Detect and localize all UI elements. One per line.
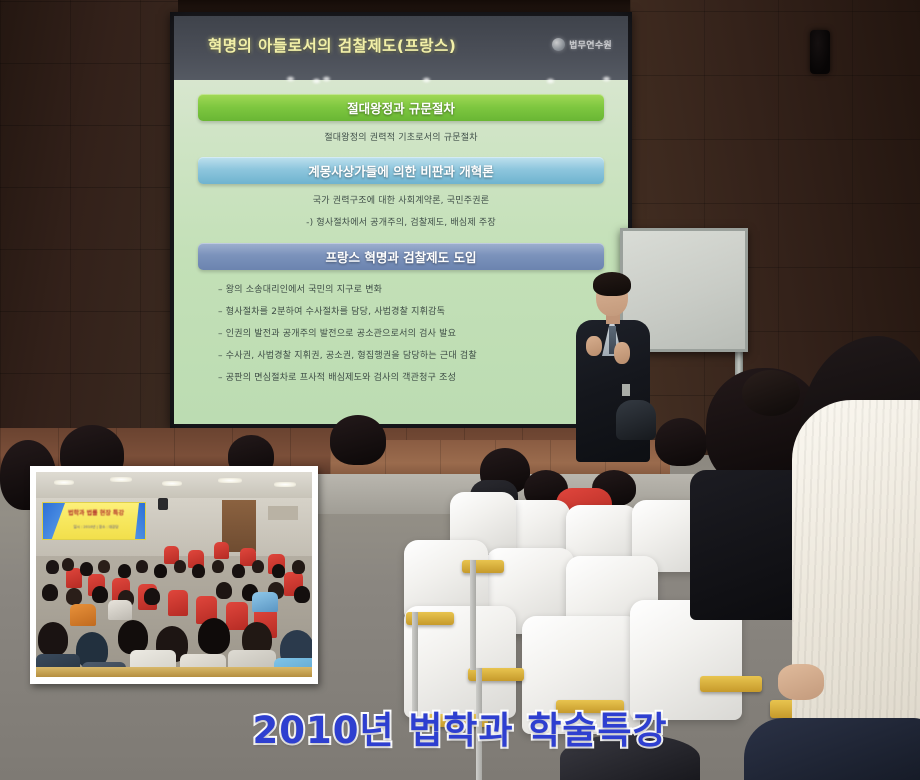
chair-armrest xyxy=(462,560,504,573)
chair-leg xyxy=(470,560,476,670)
inset-audience-head xyxy=(80,562,93,576)
inset-event-banner: 법학과 법률 현장 특강 일시 : 2010년 | 장소 : 대강당 xyxy=(42,502,146,540)
inset-audience-head xyxy=(38,622,68,656)
inset-audience-head xyxy=(216,582,232,599)
inset-wall-speaker-icon xyxy=(158,498,168,510)
inset-audience-head xyxy=(66,588,82,605)
slide-logo-text: 법무연수원 xyxy=(569,38,612,51)
inset-audience-head xyxy=(118,620,148,654)
slide-bullet: – 형사절차를 2분하여 수사절차를 담당, 사법경찰 지휘감독 xyxy=(218,304,604,317)
slide-logo: 법무연수원 xyxy=(552,38,612,51)
slide-section-heading-3: 프랑스 혁명과 검찰제도 도입 xyxy=(198,243,604,270)
wood-panel-wall-left xyxy=(0,0,178,436)
audience-head xyxy=(655,418,707,466)
inset-red-seat xyxy=(226,602,248,630)
ceiling-light-icon xyxy=(54,480,74,485)
presentation-slide: 혁명의 아들로서의 검찰제도(프랑스) 법무연수원 절대왕정과 규문절차 절대왕… xyxy=(174,16,628,424)
auditorium-audience-inset-photo: 법학과 법률 현장 특강 일시 : 2010년 | 장소 : 대강당 xyxy=(30,466,318,684)
inset-audience-head xyxy=(42,584,58,601)
lecturer-name-badge xyxy=(622,384,630,396)
inset-audience-body xyxy=(70,604,96,626)
inset-photo-content: 법학과 법률 현장 특강 일시 : 2010년 | 장소 : 대강당 xyxy=(36,472,312,677)
inset-audience-head xyxy=(144,588,160,605)
inset-audience-body xyxy=(252,592,278,612)
inset-banner-subtitle: 일시 : 2010년 | 장소 : 대강당 xyxy=(61,525,131,530)
inset-audience-head xyxy=(232,564,245,578)
photo-caption: 2010년 법학과 학술특강 xyxy=(0,700,920,754)
slide-section-line-2-2: -) 형사절차에서 공개주의, 검찰제도, 배심제 주장 xyxy=(198,215,604,228)
inset-audience-head xyxy=(198,618,230,654)
lecturer-hair xyxy=(593,272,631,296)
slide-bullet: – 수사권, 사법경찰 지휘권, 공소권, 형집행권을 담당하는 근대 검찰 xyxy=(218,348,604,361)
inset-red-seat xyxy=(168,590,188,616)
inset-desk-edge xyxy=(36,667,312,677)
inset-audience-head xyxy=(174,560,186,573)
ceiling-light-icon xyxy=(274,482,296,487)
slide-section-line-1-1: 절대왕정의 권력적 기초로서의 규문절차 xyxy=(198,130,604,143)
inset-audience-head xyxy=(192,564,205,578)
projection-screen: 혁명의 아들로서의 검찰제도(프랑스) 법무연수원 절대왕정과 규문절차 절대왕… xyxy=(170,12,632,428)
slide-body: 절대왕정과 규문절차 절대왕정의 권력적 기초로서의 규문절차 계몽사상가들에 … xyxy=(174,80,628,424)
inset-audience-head xyxy=(212,560,224,573)
inset-red-seat xyxy=(214,542,229,559)
inset-audience-head xyxy=(98,560,110,573)
slide-bullet: – 공판의 면심절차로 프사적 배심제도와 검사의 객관청구 조성 xyxy=(218,370,604,383)
inset-audience-head xyxy=(294,586,310,603)
slide-section-heading-1: 절대왕정과 규문절차 xyxy=(198,94,604,121)
wall-speaker-icon xyxy=(810,30,830,74)
slide-bullet: – 왕의 소송대리인에서 국민의 지구로 변화 xyxy=(218,282,604,295)
inset-audience-head xyxy=(62,558,74,571)
slide-section-heading-2: 계몽사상가들에 의한 비판과 개혁론 xyxy=(198,157,604,184)
inset-audience-head xyxy=(272,564,285,578)
lecturer-left-hand xyxy=(586,336,602,356)
institute-seal-icon xyxy=(552,38,565,51)
lecture-photo-scene: 혁명의 아들로서의 검찰제도(프랑스) 법무연수원 절대왕정과 규문절차 절대왕… xyxy=(0,0,920,780)
ceiling-light-icon xyxy=(218,478,242,483)
slide-section-line-2-1: 국가 권력구조에 대한 사회계약론, 국민주권론 xyxy=(198,193,604,206)
inset-audience-head xyxy=(46,560,59,574)
inset-audience-head xyxy=(252,560,264,573)
inset-audience-head xyxy=(136,560,148,573)
hair-bun xyxy=(742,370,800,416)
audience-head xyxy=(330,415,386,465)
inset-wall-sign xyxy=(268,506,298,520)
inset-audience-head xyxy=(292,560,305,574)
inset-ceiling xyxy=(36,472,312,500)
ceiling-light-icon xyxy=(110,477,132,482)
audience-hand xyxy=(778,664,824,700)
inset-audience-head xyxy=(118,564,131,578)
inset-audience-head xyxy=(92,586,108,603)
chair-armrest xyxy=(700,676,762,692)
slide-title: 혁명의 아들로서의 검찰제도(프랑스) xyxy=(208,34,456,56)
slide-bullet: – 인권의 발전과 공개주의 발전으로 공소관으로서의 검사 발요 xyxy=(218,326,604,339)
inset-banner-title: 법학과 법률 현장 특강 xyxy=(63,510,129,517)
ceiling-light-icon xyxy=(162,481,182,486)
inset-audience-head xyxy=(154,564,167,578)
lecturer-right-hand xyxy=(614,342,630,364)
slide-bullet-list: – 왕의 소송대리인에서 국민의 지구로 변화 – 형사절차를 2분하여 수사절… xyxy=(198,282,604,383)
audience-torso-dark xyxy=(616,400,656,440)
inset-audience-body xyxy=(108,600,132,620)
